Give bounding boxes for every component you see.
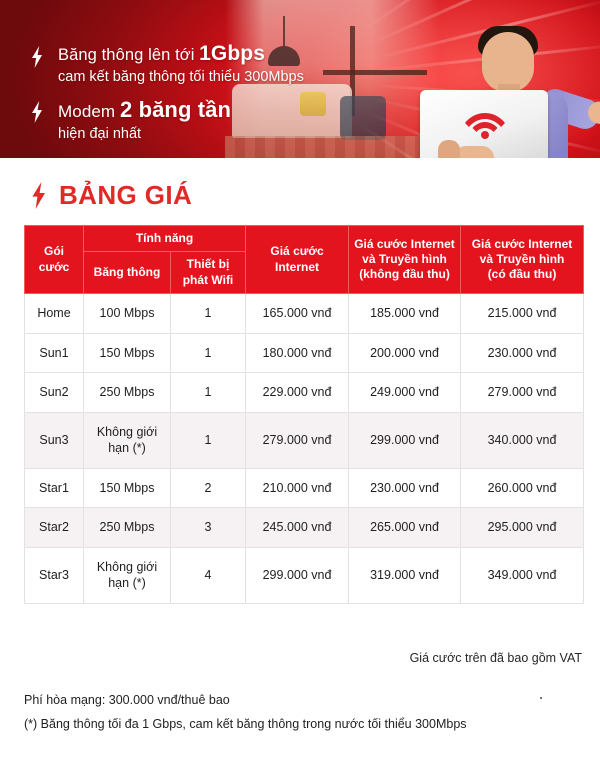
cell-wifi-devices: 4 [171,547,246,603]
header-internet-tv-no-box-line3: (không đầu thu) [352,267,457,282]
person-illustration [430,18,600,158]
cell-wifi-devices: 1 [171,373,246,413]
cell-internet-price: 210.000 vnđ [246,468,349,508]
table-row: Star3Không giới hạn (*)4299.000 vnđ319.0… [25,547,584,603]
vat-note: Giá cước trên đã bao gồm VAT [410,651,582,665]
cell-bandwidth: 150 Mbps [84,333,171,373]
cell-wifi-devices: 2 [171,468,246,508]
header-internet-tv-no-box-line2: và Truyền hình [352,252,457,267]
banner-bullet-1-strong: 1Gbps [199,42,265,65]
wifi-icon [464,108,506,140]
header-wifi-device: Thiết bị phát Wifi [171,252,246,294]
cell-package: Star3 [25,547,84,603]
header-bandwidth: Băng thông [84,252,171,294]
cell-internet-tv-no-box: 185.000 vnđ [349,294,461,334]
table-row: Sun2250 Mbps1229.000 vnđ249.000 vnđ279.0… [25,373,584,413]
banner-bullet-2-strong: 2 băng tần [120,97,231,122]
cell-bandwidth: 250 Mbps [84,508,171,548]
cell-package: Star2 [25,508,84,548]
header-internet-tv-no-box: Giá cước Internet và Truyền hình (không … [349,226,461,294]
footer-note-2: (*) Băng thông tối đa 1 Gbps, cam kết bă… [24,712,467,736]
table-header-row-1: Gói cước Tính năng Giá cước Internet Giá… [25,226,584,252]
holding-hand-decor [454,146,494,158]
footer-note-1: Phí hòa mạng: 300.000 vnđ/thuê bao [24,688,467,712]
price-table-head: Gói cước Tính năng Giá cước Internet Giá… [25,226,584,294]
cell-bandwidth: Không giới hạn (*) [84,412,171,468]
cell-internet-tv-no-box: 299.000 vnđ [349,412,461,468]
banner-bullet-2-line1: Modem 2 băng tần [58,97,231,123]
price-table: Gói cước Tính năng Giá cước Internet Giá… [24,225,584,604]
table-row: Sun3Không giới hạn (*)1279.000 vnđ299.00… [25,412,584,468]
page-title: BẢNG GIÁ [59,180,192,211]
header-internet-tv-box-line1: Giá cước Internet [464,237,580,252]
banner-bullet-2-line2: hiện đại nhất [58,126,231,142]
header-internet-tv-box: Giá cước Internet và Truyền hình (có đầu… [461,226,584,294]
cell-internet-tv-box: 349.000 vnđ [461,547,584,603]
cell-internet-tv-no-box: 319.000 vnđ [349,547,461,603]
cell-internet-tv-no-box: 230.000 vnđ [349,468,461,508]
header-wifi-device-line2: phát Wifi [174,273,242,288]
cell-internet-tv-box: 260.000 vnđ [461,468,584,508]
header-internet-tv-box-line2: và Truyền hình [464,252,580,267]
cell-internet-price: 229.000 vnđ [246,373,349,413]
header-internet-tv-box-line3: (có đầu thu) [464,267,580,282]
stray-dot-artifact [540,697,542,699]
promo-banner: Băng thông lên tới 1Gbps cam kết băng th… [0,0,600,158]
cell-internet-tv-no-box: 265.000 vnđ [349,508,461,548]
cell-package: Sun2 [25,373,84,413]
cell-internet-price: 279.000 vnđ [246,412,349,468]
table-row: Sun1150 Mbps1180.000 vnđ200.000 vnđ230.0… [25,333,584,373]
cell-internet-tv-box: 230.000 vnđ [461,333,584,373]
banner-bullet-2: Modem 2 băng tần hiện đại nhất [30,97,231,142]
banner-bullet-1-line1: Băng thông lên tới 1Gbps [58,42,304,66]
cell-bandwidth: 250 Mbps [84,373,171,413]
cell-internet-tv-box: 340.000 vnđ [461,412,584,468]
header-features-group: Tính năng [84,226,246,252]
head-decor [482,32,534,92]
cell-internet-price: 299.000 vnđ [246,547,349,603]
lightning-bolt-icon [30,101,44,123]
price-list-page: Băng thông lên tới 1Gbps cam kết băng th… [0,0,600,761]
footer-notes: Phí hòa mạng: 300.000 vnđ/thuê bao (*) B… [24,688,467,737]
header-internet-price-line1: Giá cước [249,244,345,259]
cell-bandwidth: Không giới hạn (*) [84,547,171,603]
cell-bandwidth: 100 Mbps [84,294,171,334]
cell-package: Star1 [25,468,84,508]
table-row: Home100 Mbps1165.000 vnđ185.000 vnđ215.0… [25,294,584,334]
header-wifi-device-line1: Thiết bị [174,257,242,272]
header-internet-tv-no-box-line1: Giá cước Internet [352,237,457,252]
cell-internet-tv-box: 279.000 vnđ [461,373,584,413]
cell-internet-price: 245.000 vnđ [246,508,349,548]
cell-internet-tv-no-box: 249.000 vnđ [349,373,461,413]
cell-wifi-devices: 3 [171,508,246,548]
price-table-body: Home100 Mbps1165.000 vnđ185.000 vnđ215.0… [25,294,584,604]
banner-bullet-2-prefix: Modem [58,102,120,121]
cell-internet-price: 180.000 vnđ [246,333,349,373]
cell-internet-tv-box: 215.000 vnđ [461,294,584,334]
header-internet-price-line2: Internet [249,260,345,275]
lightning-bolt-icon [30,46,44,68]
banner-bullet-1-prefix: Băng thông lên tới [58,46,199,64]
cell-wifi-devices: 1 [171,294,246,334]
cell-package: Sun1 [25,333,84,373]
section-title-row: BẢNG GIÁ [30,180,192,211]
cell-internet-tv-box: 295.000 vnđ [461,508,584,548]
cell-wifi-devices: 1 [171,333,246,373]
cell-internet-price: 165.000 vnđ [246,294,349,334]
banner-bullet-1-line2: cam kết băng thông tối thiểu 300Mbps [58,69,304,85]
cell-internet-tv-no-box: 200.000 vnđ [349,333,461,373]
cell-bandwidth: 150 Mbps [84,468,171,508]
cell-package: Sun3 [25,412,84,468]
table-row: Star2250 Mbps3245.000 vnđ265.000 vnđ295.… [25,508,584,548]
table-row: Star1150 Mbps2210.000 vnđ230.000 vnđ260.… [25,468,584,508]
header-internet-price: Giá cước Internet [246,226,349,294]
price-table-wrapper: Gói cước Tính năng Giá cước Internet Giá… [24,225,583,604]
cell-wifi-devices: 1 [171,412,246,468]
lightning-bolt-icon [30,182,47,209]
cell-package: Home [25,294,84,334]
header-package: Gói cước [25,226,84,294]
banner-text-block: Băng thông lên tới 1Gbps cam kết băng th… [0,0,330,158]
banner-bullet-1: Băng thông lên tới 1Gbps cam kết băng th… [30,42,304,85]
